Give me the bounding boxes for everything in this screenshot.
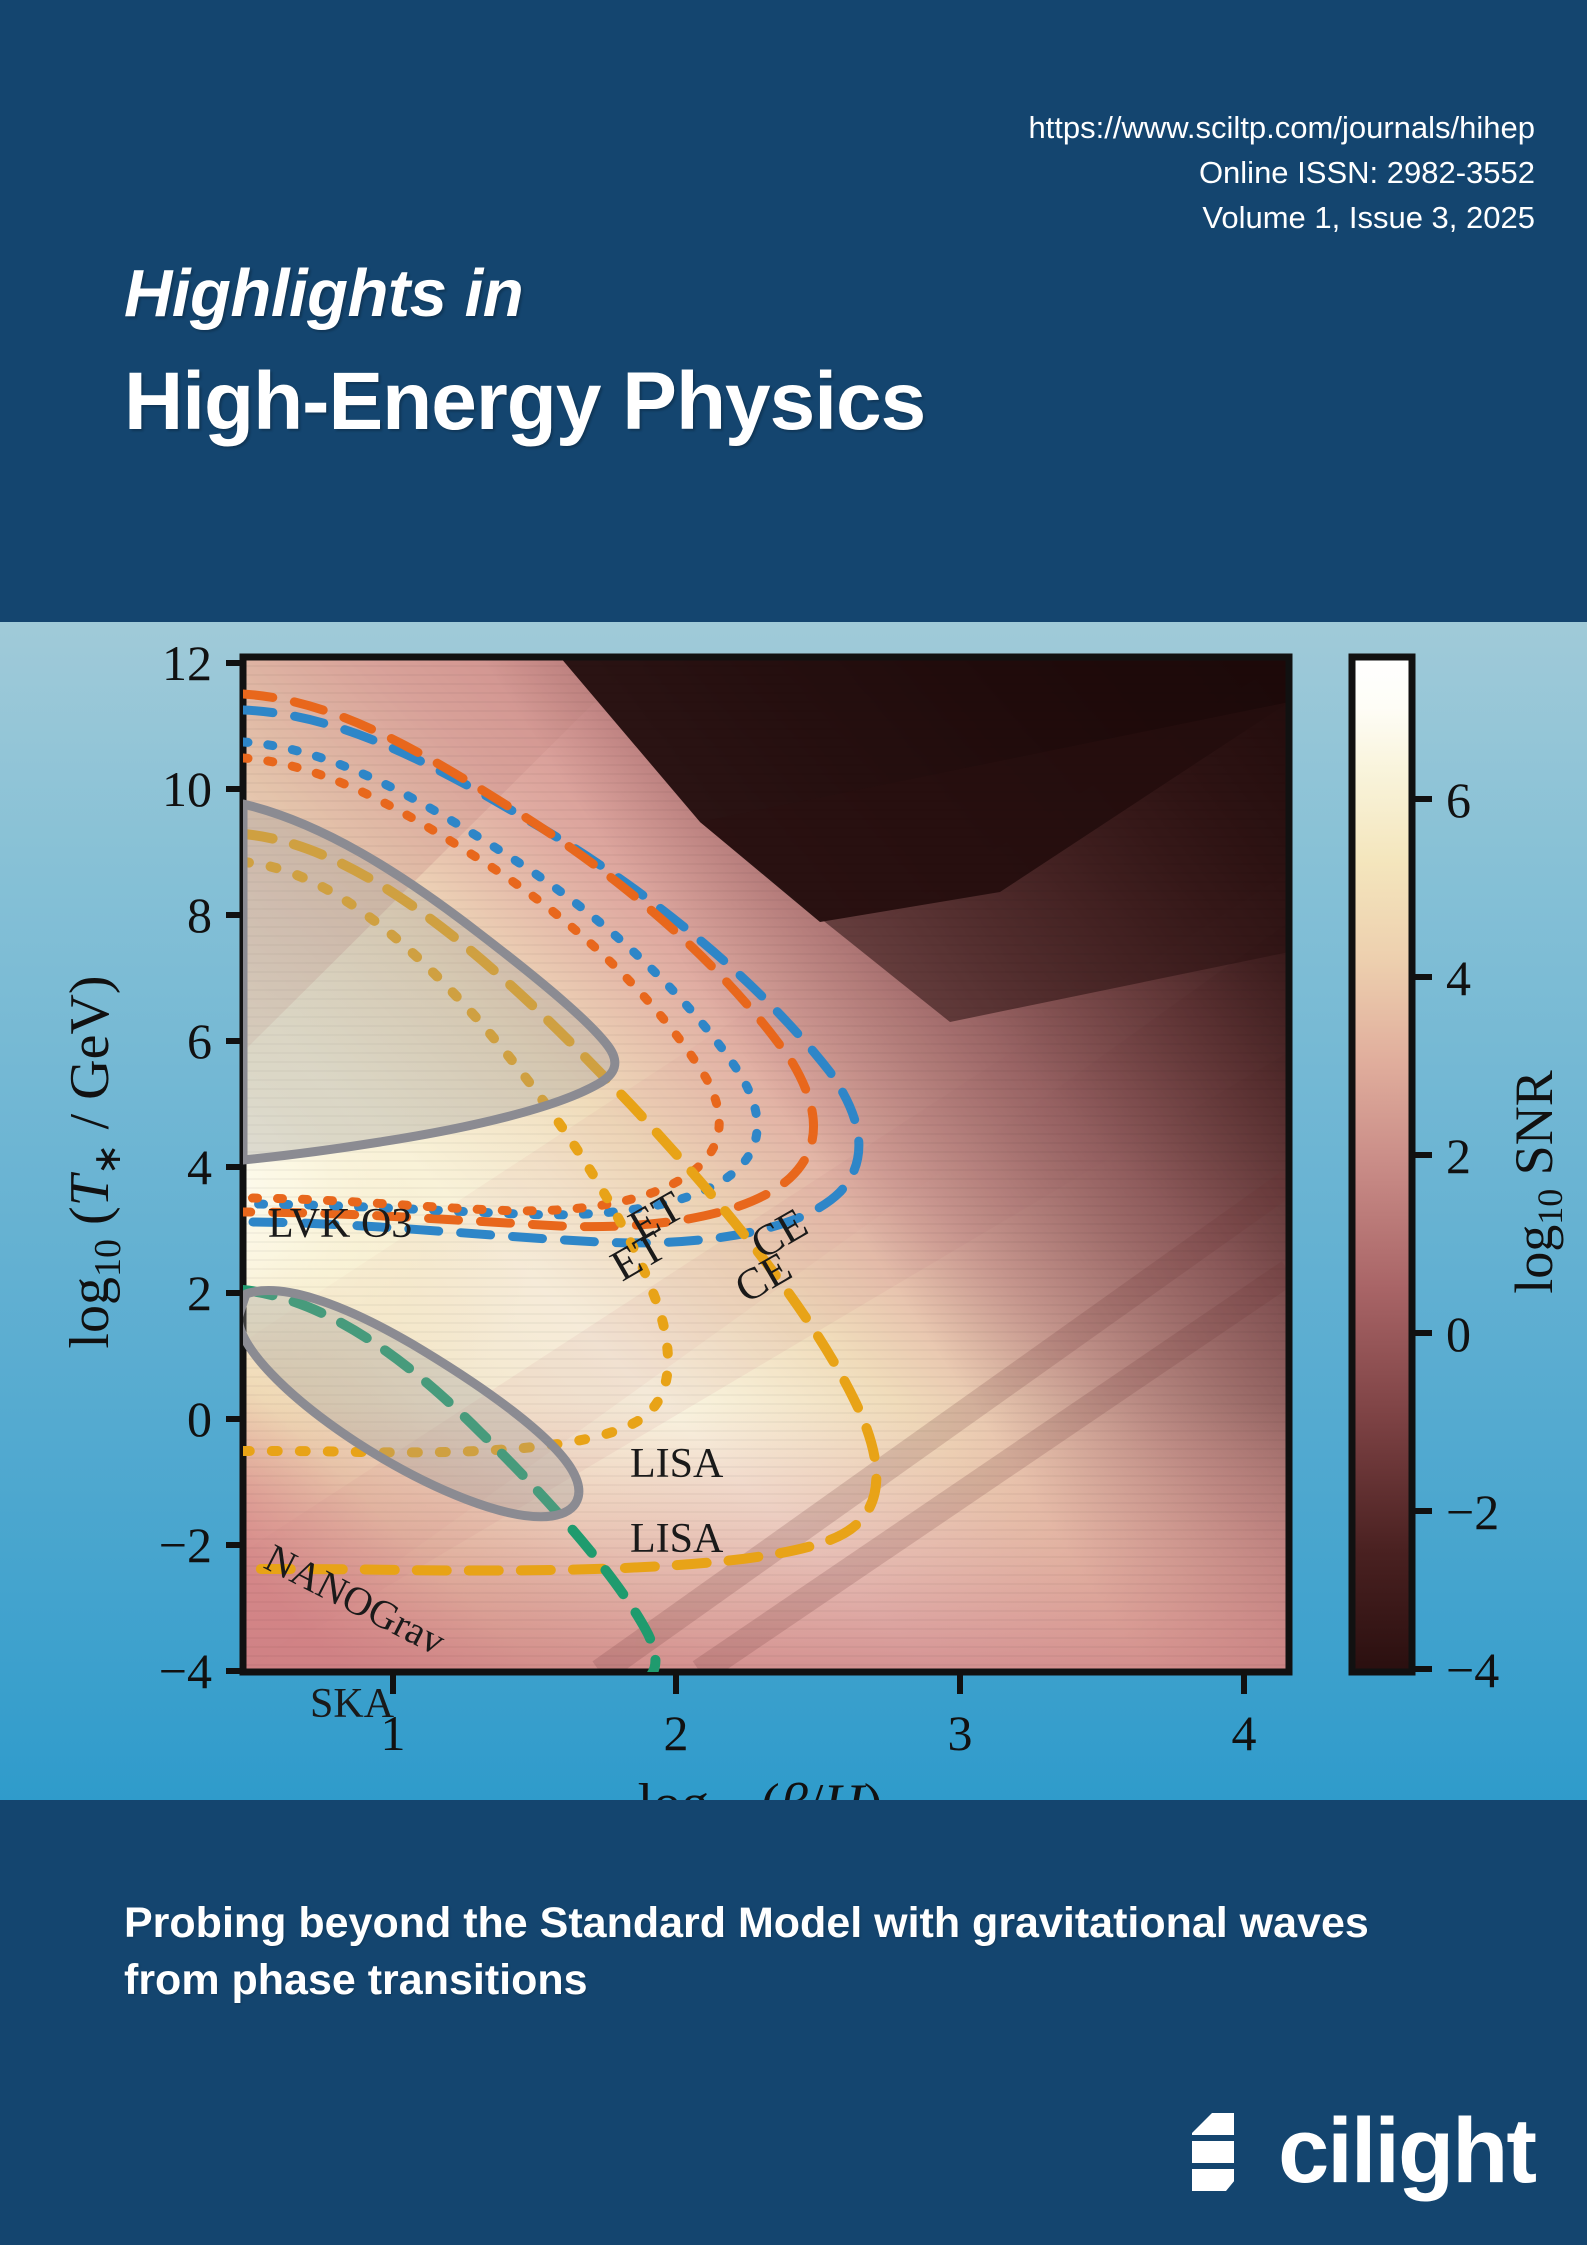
y-axis-tick-labels: 12 10 8 6 4 2 0 −2 −4 <box>159 635 212 1699</box>
cover-caption-band: Probing beyond the Standard Model with g… <box>0 1800 1587 2245</box>
y-tick-8: 8 <box>187 887 212 943</box>
y-tick-0: 0 <box>187 1391 212 1447</box>
region-label-lvk-o3: LVK O3 <box>268 1201 412 1247</box>
colorbar-title: log10 SNR <box>1504 1070 1570 1294</box>
x-axis-title: log10 (β/H) <box>638 1773 883 1800</box>
cover-header: https://www.sciltp.com/journals/hihep On… <box>0 0 1587 622</box>
cover-figure: LVK O3 NANOGrav SKA LISA LISA ET ET CE C… <box>0 622 1587 1800</box>
contour-label-lisa-dashed: LISA <box>630 1516 724 1562</box>
scilight-logo: cilight <box>1182 2105 1535 2197</box>
y-axis-title: log10 (T∗ / GeV) <box>59 975 129 1348</box>
cb-tick-0: 0 <box>1446 1306 1471 1362</box>
y-tick-10: 10 <box>162 761 212 817</box>
colorbar: 6 4 2 0 −2 −4 log10 SNR <box>1352 657 1570 1698</box>
colorbar-tick-labels: 6 4 2 0 −2 −4 <box>1446 772 1499 1698</box>
journal-title-prefix: Highlights in <box>124 255 523 332</box>
y-tick-4: 4 <box>187 1139 212 1195</box>
x-tick-2: 2 <box>664 1705 689 1761</box>
y-tick-6: 6 <box>187 1013 212 1069</box>
journal-issn: Online ISSN: 2982-3552 <box>1028 150 1535 195</box>
cb-tick-6: 6 <box>1446 772 1471 828</box>
journal-volume-issue: Volume 1, Issue 3, 2025 <box>1028 195 1535 240</box>
article-caption: Probing beyond the Standard Model with g… <box>124 1895 1444 2009</box>
cb-tick-m4: −4 <box>1446 1642 1499 1698</box>
y-tick-m2: −2 <box>159 1517 212 1573</box>
scilight-wordmark: cilight <box>1278 2105 1535 2197</box>
x-tick-1: 1 <box>381 1705 406 1761</box>
journal-metadata: https://www.sciltp.com/journals/hihep On… <box>1028 105 1535 240</box>
y-tick-12: 12 <box>162 635 212 691</box>
cb-tick-2: 2 <box>1446 1128 1471 1184</box>
contour-label-lisa-dotted: LISA <box>630 1441 724 1487</box>
journal-title-main: High-Energy Physics <box>124 355 925 449</box>
x-tick-3: 3 <box>948 1705 973 1761</box>
scilight-s-mark <box>1182 2105 1268 2197</box>
cb-tick-m2: −2 <box>1446 1484 1499 1540</box>
x-axis-tick-labels: 1 2 3 4 <box>381 1705 1257 1761</box>
snr-heatmap-figure: LVK O3 NANOGrav SKA LISA LISA ET ET CE C… <box>0 622 1587 1800</box>
journal-url: https://www.sciltp.com/journals/hihep <box>1028 105 1535 150</box>
y-tick-m4: −4 <box>159 1643 212 1699</box>
y-tick-2: 2 <box>187 1265 212 1321</box>
x-tick-4: 4 <box>1232 1705 1257 1761</box>
cb-tick-4: 4 <box>1446 950 1471 1006</box>
